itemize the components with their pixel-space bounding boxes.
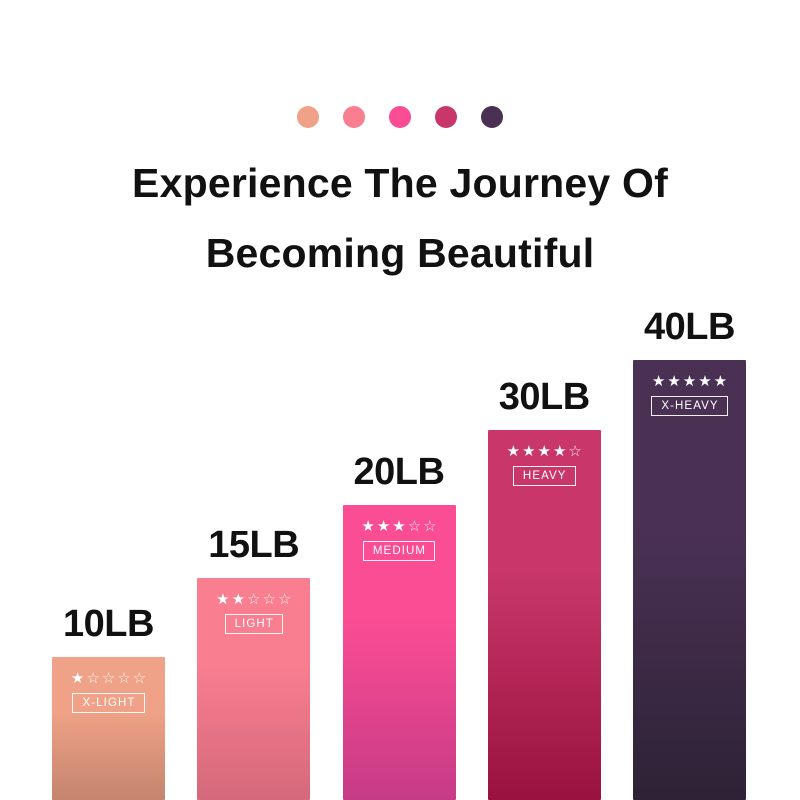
star-outline-icon: ☆ (247, 592, 260, 607)
star-filled-icon: ★ (377, 519, 390, 534)
dot-x-heavy (481, 106, 503, 128)
bar-weight-label: 20LB (354, 453, 445, 491)
star-filled-icon: ★ (361, 519, 374, 534)
bar-badge: ★☆☆☆☆X-LIGHT (52, 671, 165, 713)
star-outline-icon: ☆ (117, 671, 130, 686)
star-filled-icon: ★ (538, 444, 551, 459)
bar-30lb[interactable]: ★★★★☆HEAVY (488, 430, 601, 800)
dot-light (343, 106, 365, 128)
star-filled-icon: ★ (652, 374, 665, 389)
chart-column-40lb: 40LB★★★★★X-HEAVY (633, 280, 746, 800)
bar-10lb[interactable]: ★☆☆☆☆X-LIGHT (52, 657, 165, 800)
chart-column-30lb: 30LB★★★★☆HEAVY (488, 280, 601, 800)
resistance-level-tag: LIGHT (225, 614, 283, 634)
promo-poster: Experience The Journey Of Becoming Beaut… (0, 0, 800, 800)
bar-badge: ★★★★★X-HEAVY (633, 374, 746, 416)
resistance-level-tag: HEAVY (513, 466, 576, 486)
bar-badge: ★★☆☆☆LIGHT (197, 592, 310, 634)
star-rating: ★★★★★ (652, 374, 727, 389)
resistance-level-tag: X-HEAVY (651, 396, 727, 416)
star-outline-icon: ☆ (262, 592, 275, 607)
dot-x-light (297, 106, 319, 128)
star-filled-icon: ★ (232, 592, 245, 607)
color-swatch-row (0, 106, 800, 128)
star-filled-icon: ★ (216, 592, 229, 607)
page-title-line-2: Becoming Beautiful (0, 218, 800, 288)
page-title: Experience The Journey Of Becoming Beaut… (0, 148, 800, 288)
bar-weight-label: 30LB (499, 378, 590, 416)
bar-badge: ★★★☆☆MEDIUM (343, 519, 456, 561)
bar-40lb[interactable]: ★★★★★X-HEAVY (633, 360, 746, 800)
star-outline-icon: ☆ (568, 444, 581, 459)
star-filled-icon: ★ (507, 444, 520, 459)
star-outline-icon: ☆ (423, 519, 436, 534)
star-rating: ★★☆☆☆ (216, 592, 291, 607)
bar-weight-label: 15LB (208, 526, 299, 564)
star-filled-icon: ★ (698, 374, 711, 389)
page-title-line-1: Experience The Journey Of (0, 148, 800, 218)
star-rating: ★☆☆☆☆ (71, 671, 146, 686)
star-outline-icon: ☆ (133, 671, 146, 686)
bar-15lb[interactable]: ★★☆☆☆LIGHT (197, 578, 310, 800)
star-outline-icon: ☆ (408, 519, 421, 534)
chart-column-20lb: 20LB★★★☆☆MEDIUM (343, 280, 456, 800)
star-filled-icon: ★ (522, 444, 535, 459)
bar-20lb[interactable]: ★★★☆☆MEDIUM (343, 505, 456, 800)
resistance-level-tag: X-LIGHT (72, 693, 144, 713)
star-filled-icon: ★ (683, 374, 696, 389)
star-outline-icon: ☆ (102, 671, 115, 686)
chart-column-15lb: 15LB★★☆☆☆LIGHT (197, 280, 310, 800)
star-filled-icon: ★ (667, 374, 680, 389)
dot-medium (389, 106, 411, 128)
star-rating: ★★★★☆ (507, 444, 582, 459)
star-filled-icon: ★ (714, 374, 727, 389)
star-filled-icon: ★ (71, 671, 84, 686)
star-outline-icon: ☆ (86, 671, 99, 686)
resistance-bar-chart: 10LB★☆☆☆☆X-LIGHT15LB★★☆☆☆LIGHT20LB★★★☆☆M… (52, 280, 746, 800)
star-rating: ★★★☆☆ (361, 519, 436, 534)
bar-weight-label: 40LB (644, 308, 735, 346)
chart-column-10lb: 10LB★☆☆☆☆X-LIGHT (52, 280, 165, 800)
star-filled-icon: ★ (553, 444, 566, 459)
dot-heavy (435, 106, 457, 128)
bar-badge: ★★★★☆HEAVY (488, 444, 601, 486)
resistance-level-tag: MEDIUM (363, 541, 435, 561)
bar-weight-label: 10LB (63, 605, 154, 643)
star-outline-icon: ☆ (278, 592, 291, 607)
star-filled-icon: ★ (392, 519, 405, 534)
